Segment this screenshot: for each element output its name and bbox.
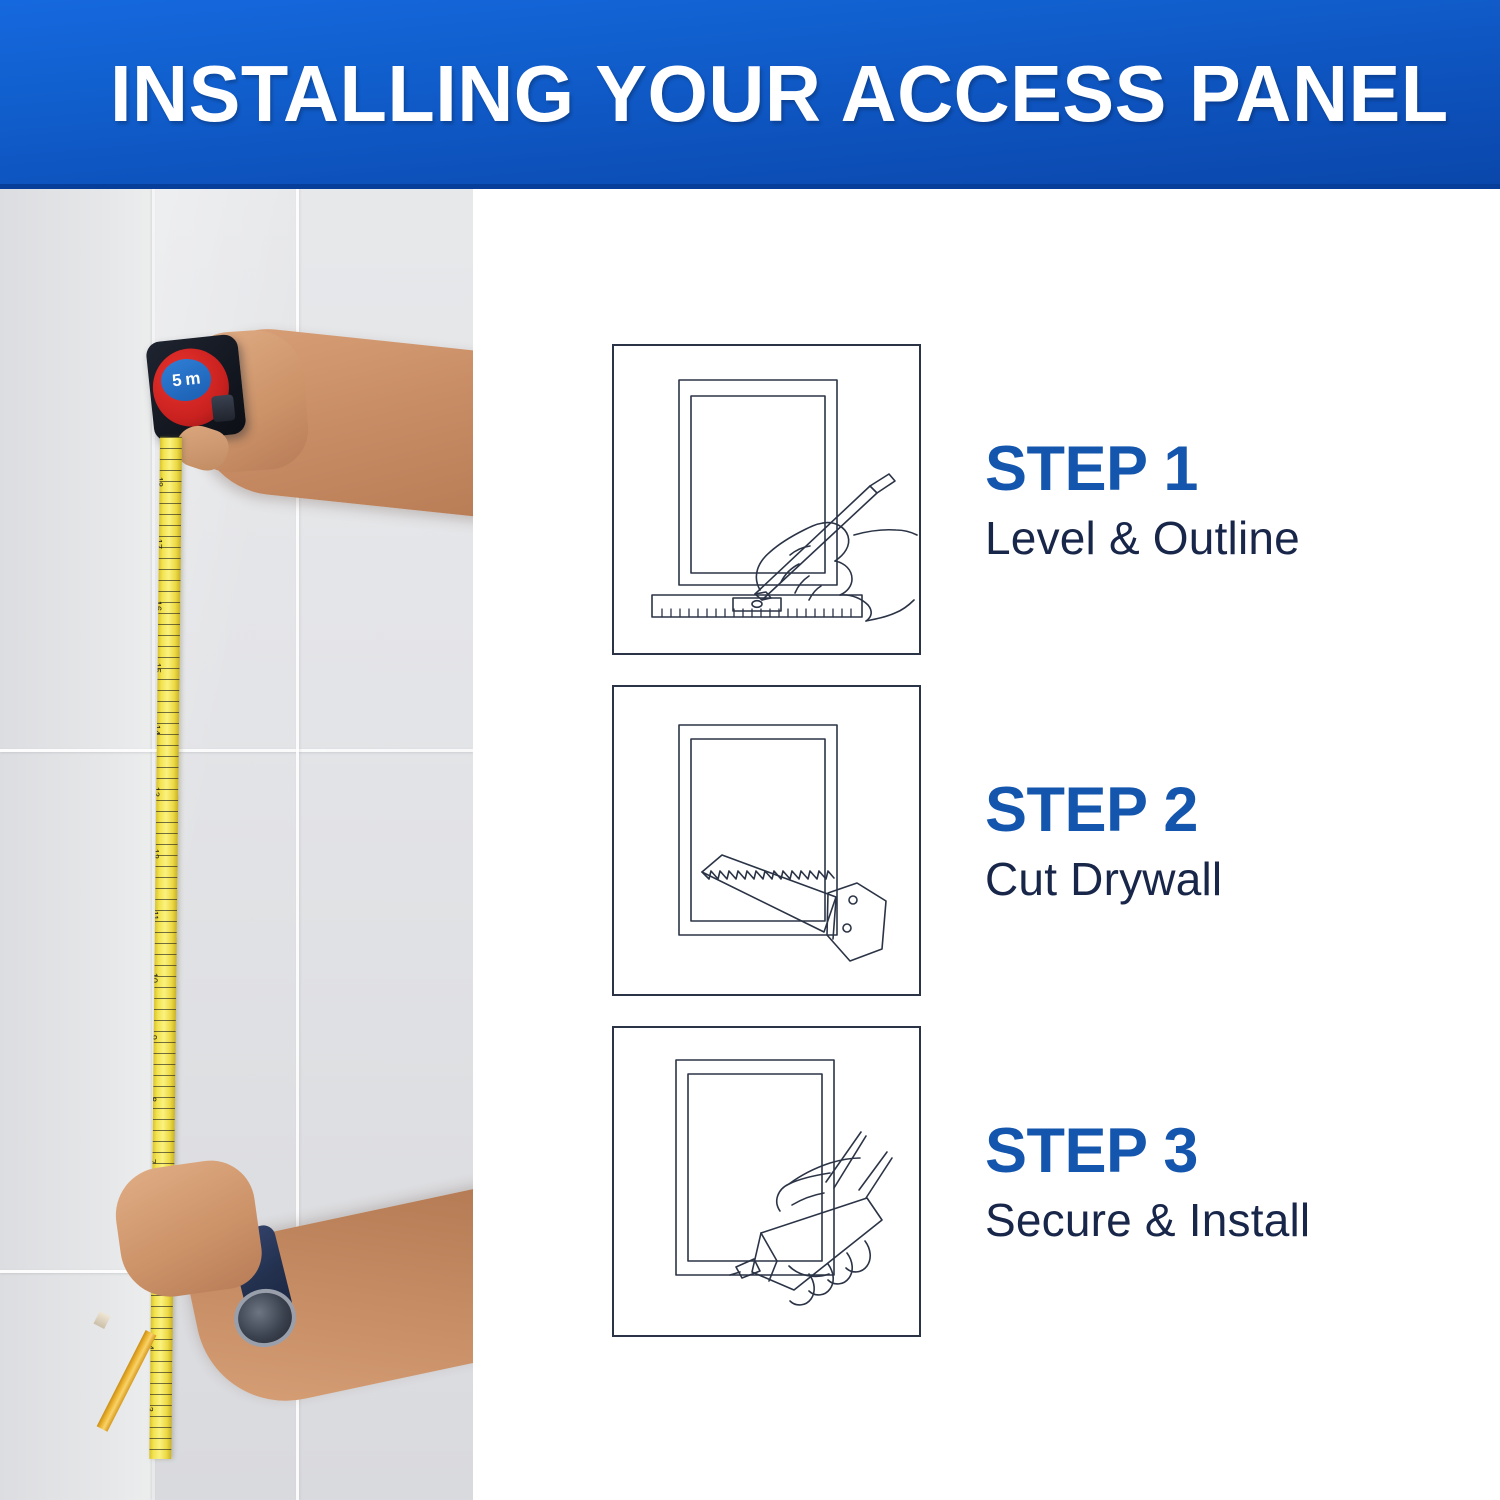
step-row: STEP 2 Cut Drywall	[612, 685, 1472, 996]
step-1-text: STEP 1 Level & Outline	[985, 344, 1300, 655]
steps-panel: STEP 1 Level & Outline STEP 2 Cut Drywa	[473, 189, 1500, 1500]
step-2-illustration	[612, 685, 921, 996]
step-3-text: STEP 3 Secure & Install	[985, 1026, 1310, 1337]
wall-left-return	[0, 189, 152, 1500]
step-3-subtitle: Secure & Install	[985, 1192, 1310, 1248]
step-row: STEP 3 Secure & Install	[612, 1026, 1472, 1337]
tape-measure-latch	[211, 394, 236, 422]
step-3-illustration	[612, 1026, 921, 1337]
step-row: STEP 1 Level & Outline	[612, 344, 1472, 655]
step-3-title: STEP 3	[985, 1116, 1310, 1186]
step-1-illustration	[612, 344, 921, 655]
grout-line-horizontal	[0, 749, 473, 752]
step-1-subtitle: Level & Outline	[985, 510, 1300, 566]
page-title: INSTALLING YOUR ACCESS PANEL	[110, 50, 1449, 138]
step-2-text: STEP 2 Cut Drywall	[985, 685, 1222, 996]
step-2-subtitle: Cut Drywall	[985, 851, 1222, 907]
step-2-title: STEP 2	[985, 775, 1222, 845]
page-header: INSTALLING YOUR ACCESS PANEL	[0, 0, 1500, 189]
lower-hand	[110, 1155, 267, 1303]
step-1-title: STEP 1	[985, 434, 1300, 504]
installation-photo: 5 m 1817161514131211109876543	[0, 189, 473, 1500]
